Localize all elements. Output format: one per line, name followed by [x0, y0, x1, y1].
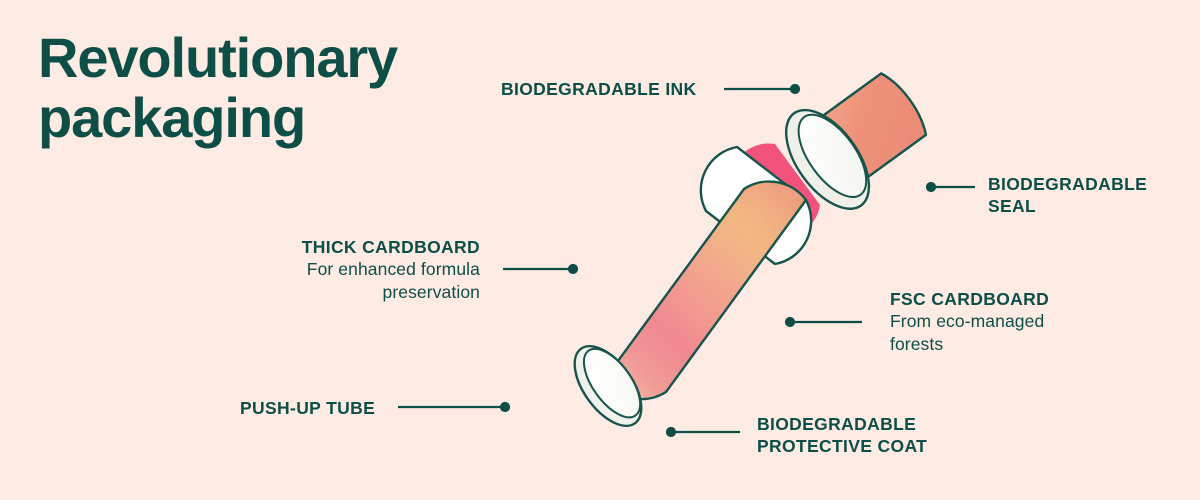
callout-heading: FSC CARDBOARD [890, 288, 1049, 310]
callout-subtext: From eco-managed forests [890, 310, 1049, 356]
callout-fsc-cardboard: FSC CARDBOARD From eco-managed forests [890, 288, 1049, 356]
callout-heading: THICK CARDBOARD [228, 236, 480, 258]
callout-thick-cardboard: THICK CARDBOARD For enhanced formula pre… [228, 236, 480, 304]
callout-biodegradable-ink: BIODEGRADABLE INK [501, 78, 697, 100]
callout-heading: BIODEGRADABLE SEAL [988, 173, 1147, 218]
callout-push-up-tube: PUSH-UP TUBE [240, 397, 375, 419]
infographic-canvas: Revolutionary packaging [0, 0, 1200, 500]
callout-heading: BIODEGRADABLE INK [501, 78, 697, 100]
callout-heading: PUSH-UP TUBE [240, 397, 375, 419]
callout-subtext: For enhanced formula preservation [228, 258, 480, 304]
packaging-illustration [0, 0, 1200, 500]
callout-biodegradable-protective-coat: BIODEGRADABLE PROTECTIVE COAT [757, 413, 927, 458]
callout-biodegradable-seal: BIODEGRADABLE SEAL [988, 173, 1147, 218]
callout-heading: BIODEGRADABLE PROTECTIVE COAT [757, 413, 927, 458]
